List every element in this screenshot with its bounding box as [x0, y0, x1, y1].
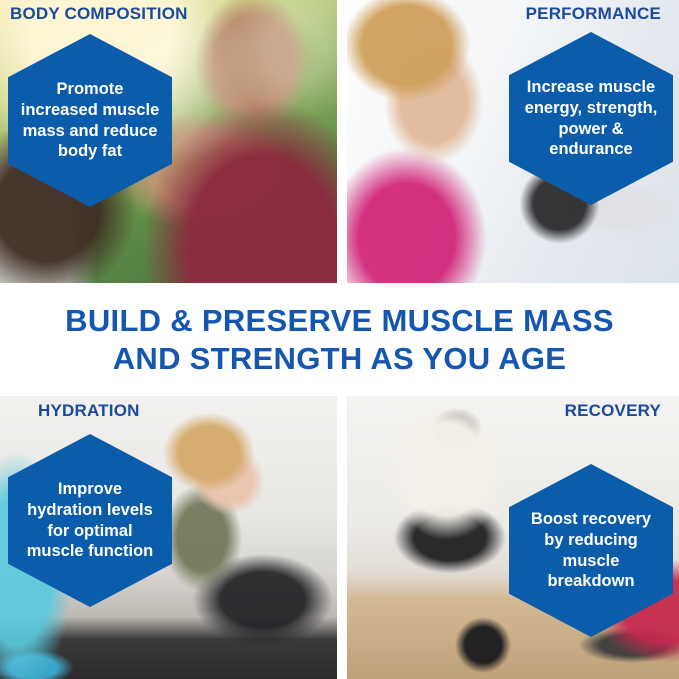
- category-label-hydration: HYDRATION: [38, 401, 140, 421]
- callout-text-hydration: Improve hydration levels for optimal mus…: [17, 479, 164, 563]
- callout-text-recovery: Boost recovery by reducing muscle breakd…: [521, 509, 661, 593]
- callout-text-performance: Increase muscle energy, strength, power …: [515, 77, 668, 161]
- category-label-body-composition: BODY COMPOSITION: [10, 4, 188, 24]
- center-banner: BUILD & PRESERVE MUSCLE MASS AND STRENGT…: [0, 283, 679, 396]
- callout-text-body-composition: Promote increased muscle mass and reduce…: [11, 79, 170, 163]
- category-label-recovery: RECOVERY: [565, 401, 661, 421]
- category-label-performance: PERFORMANCE: [526, 4, 661, 24]
- muscle-health-infographic: BODY COMPOSITION Promote increased muscl…: [0, 0, 679, 679]
- banner-line-2: AND STRENGTH AS YOU AGE: [113, 340, 567, 378]
- banner-line-1: BUILD & PRESERVE MUSCLE MASS: [65, 302, 614, 340]
